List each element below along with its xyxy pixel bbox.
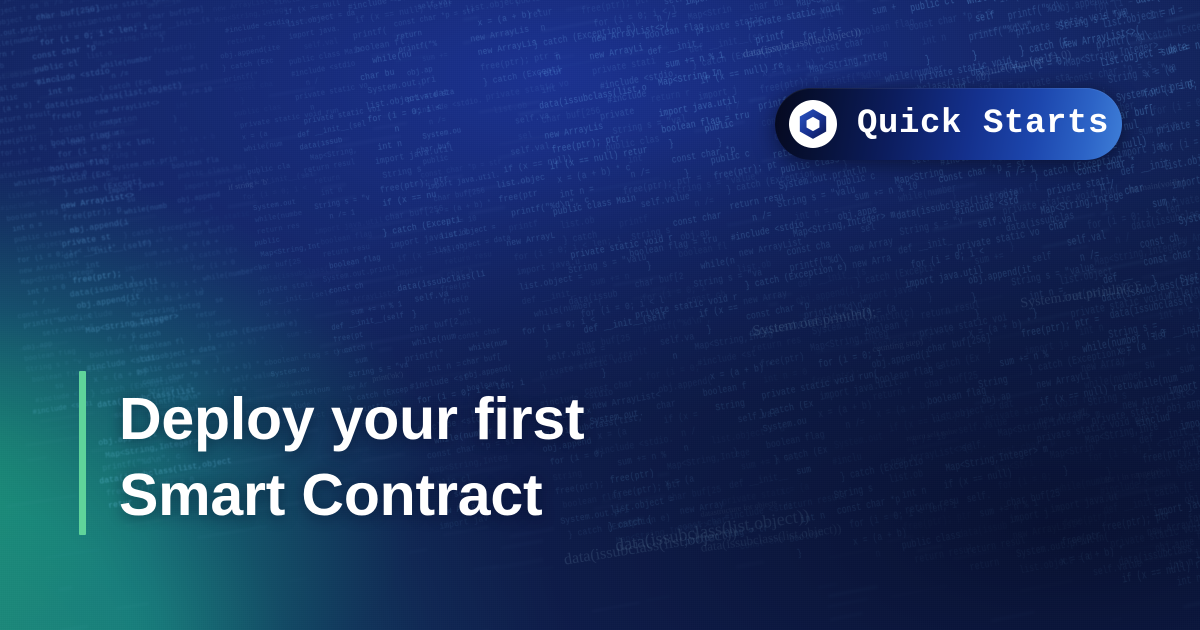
page-title-line-2: Smart Contract [119,458,759,534]
headline-accent-bar [79,371,86,535]
chainlink-hexagon-icon [789,100,837,148]
quickstarts-banner: System.o char System.out.pr list.object … [0,0,1200,630]
badge-label: Quick Starts [857,105,1109,143]
page-title-line-1: Deploy your first [119,382,759,458]
quickstarts-badge[interactable]: Quick Starts [775,88,1122,160]
page-title: Deploy your first Smart Contract [119,382,759,533]
